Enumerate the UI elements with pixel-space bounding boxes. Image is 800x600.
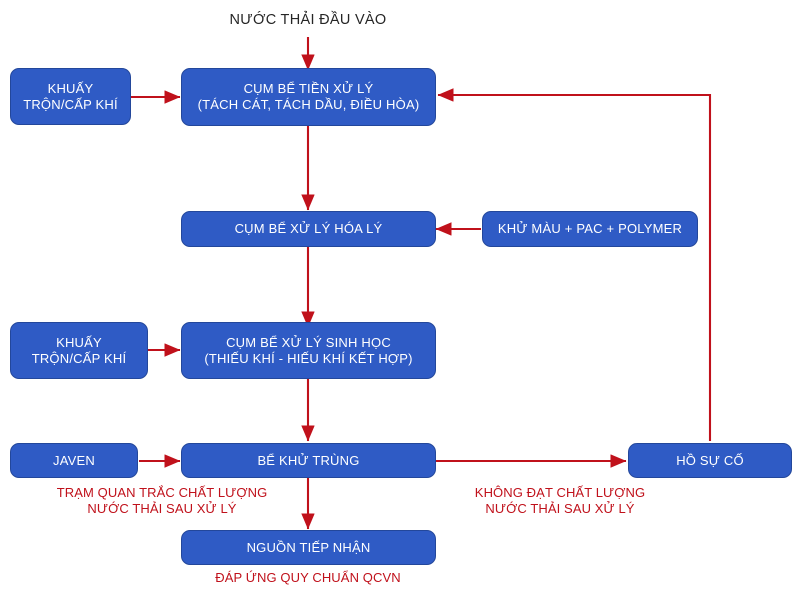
- node-mix-aeration-1-line1: KHUẤY: [17, 81, 124, 97]
- node-biological-line1: CỤM BỂ XỬ LÝ SINH HỌC: [188, 335, 429, 351]
- node-physicochemical[interactable]: CỤM BỂ XỬ LÝ HÓA LÝ: [181, 211, 436, 247]
- node-biological-line2: (THIẾU KHÍ - HIẾU KHÍ KẾT HỢP): [188, 351, 429, 367]
- node-mix-aeration-1[interactable]: KHUẤY TRỘN/CẤP KHÍ: [10, 68, 131, 125]
- node-mix-aeration-2-line2: TRỘN/CẤP KHÍ: [17, 351, 141, 367]
- node-pretreatment-line2: (TÁCH CÁT, TÁCH DẦU, ĐIỀU HÒA): [188, 97, 429, 113]
- node-chemicals[interactable]: KHỬ MÀU + PAC + POLYMER: [482, 211, 698, 247]
- note-non-compliant: KHÔNG ĐẠT CHẤT LƯỢNG NƯỚC THẢI SAU XỬ LÝ: [430, 485, 690, 518]
- node-incident-pond-line1: HỒ SỰ CỐ: [635, 453, 785, 469]
- note-non-compliant-line1: KHÔNG ĐẠT CHẤT LƯỢNG: [430, 485, 690, 501]
- note-monitoring-station-line1: TRẠM QUAN TRẮC CHẤT LƯỢNG: [22, 485, 302, 501]
- node-chemicals-line1: KHỬ MÀU + PAC + POLYMER: [489, 221, 691, 237]
- node-pretreatment-line1: CỤM BỂ TIỀN XỬ LÝ: [188, 81, 429, 97]
- node-incident-pond[interactable]: HỒ SỰ CỐ: [628, 443, 792, 478]
- note-monitoring-station: TRẠM QUAN TRẮC CHẤT LƯỢNG NƯỚC THẢI SAU …: [22, 485, 302, 518]
- node-disinfection[interactable]: BỂ KHỬ TRÙNG: [181, 443, 436, 478]
- page-title: NƯỚC THẢI ĐẦU VÀO: [228, 12, 388, 28]
- arrow-incident-pond-recycle-to-pretreatment: [438, 95, 710, 441]
- note-non-compliant-line2: NƯỚC THẢI SAU XỬ LÝ: [430, 501, 690, 517]
- node-biological[interactable]: CỤM BỂ XỬ LÝ SINH HỌC (THIẾU KHÍ - HIẾU …: [181, 322, 436, 379]
- node-javen-line1: JAVEN: [17, 453, 131, 469]
- node-pretreatment[interactable]: CỤM BỂ TIỀN XỬ LÝ (TÁCH CÁT, TÁCH DẦU, Đ…: [181, 68, 436, 126]
- node-mix-aeration-2-line1: KHUẤY: [17, 335, 141, 351]
- node-mix-aeration-1-line2: TRỘN/CẤP KHÍ: [17, 97, 124, 113]
- node-receiving-source[interactable]: NGUỒN TIẾP NHẬN: [181, 530, 436, 565]
- note-compliant-line1: ĐÁP ỨNG QUY CHUẨN QCVN: [178, 570, 438, 586]
- node-javen[interactable]: JAVEN: [10, 443, 138, 478]
- note-compliant: ĐÁP ỨNG QUY CHUẨN QCVN: [178, 570, 438, 586]
- node-disinfection-line1: BỂ KHỬ TRÙNG: [188, 453, 429, 469]
- wastewater-treatment-flowchart: NƯỚC THẢI ĐẦU VÀO KHUẤY TRỘN/CẤP KHÍ CỤM…: [0, 0, 800, 600]
- node-mix-aeration-2[interactable]: KHUẤY TRỘN/CẤP KHÍ: [10, 322, 148, 379]
- node-physicochemical-line1: CỤM BỂ XỬ LÝ HÓA LÝ: [188, 221, 429, 237]
- node-receiving-source-line1: NGUỒN TIẾP NHẬN: [188, 540, 429, 556]
- note-monitoring-station-line2: NƯỚC THẢI SAU XỬ LÝ: [22, 501, 302, 517]
